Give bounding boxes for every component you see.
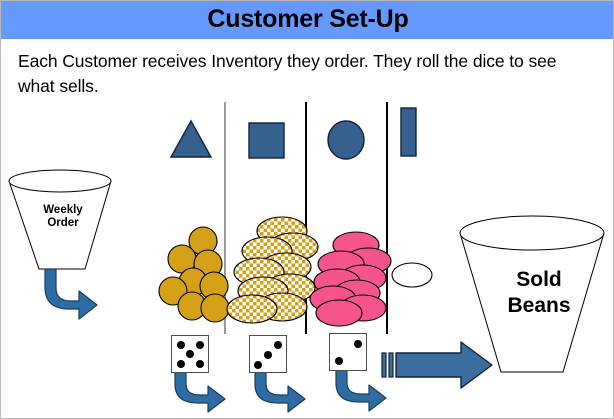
- circle-icon: [328, 121, 364, 159]
- sold-beans-label: Sold Beans: [479, 267, 599, 318]
- bean-pile-gold: [159, 227, 229, 322]
- column-divider-1: [224, 102, 226, 334]
- sold-beans-label-line2: Beans: [479, 293, 599, 319]
- triangle-icon: [171, 121, 211, 157]
- die-pip: [354, 340, 362, 348]
- block-arrow-icon: [382, 342, 492, 388]
- curved-arrow-icon-die-2: [255, 372, 305, 412]
- weekly-order-label-line1: Weekly: [15, 204, 111, 217]
- body-text: Each Customer receives Inventory they or…: [18, 49, 588, 99]
- sold-beans-label-line1: Sold: [479, 267, 599, 293]
- column-divider-3: [386, 102, 388, 334]
- die-pip: [254, 361, 262, 369]
- slide-canvas: Customer Set-Up Each Customer receives I…: [0, 0, 614, 419]
- die-icon-1: [171, 335, 209, 373]
- weekly-order-label: Weekly Order: [15, 204, 111, 230]
- curved-arrow-icon-weekly: [45, 269, 97, 319]
- die-pip: [196, 341, 204, 349]
- page-title: Customer Set-Up: [1, 1, 614, 39]
- die-pip: [186, 350, 194, 358]
- curved-arrow-icon-die-1: [175, 372, 225, 412]
- curved-arrow-icon-die-3: [336, 370, 386, 411]
- die-icon-3: [329, 333, 367, 371]
- die-pip: [335, 357, 343, 365]
- die-icon-2: [249, 335, 287, 373]
- die-pip: [196, 360, 204, 368]
- die-pip: [264, 351, 272, 359]
- bean-pile-pink: [310, 232, 391, 326]
- square-icon: [249, 123, 284, 158]
- column-divider-2: [305, 102, 307, 334]
- die-pip: [274, 341, 282, 349]
- die-pip: [177, 341, 185, 349]
- die-pip: [177, 360, 185, 368]
- bean-white: [392, 263, 432, 287]
- weekly-order-label-line2: Order: [15, 217, 111, 230]
- rectangle-icon: [401, 108, 416, 156]
